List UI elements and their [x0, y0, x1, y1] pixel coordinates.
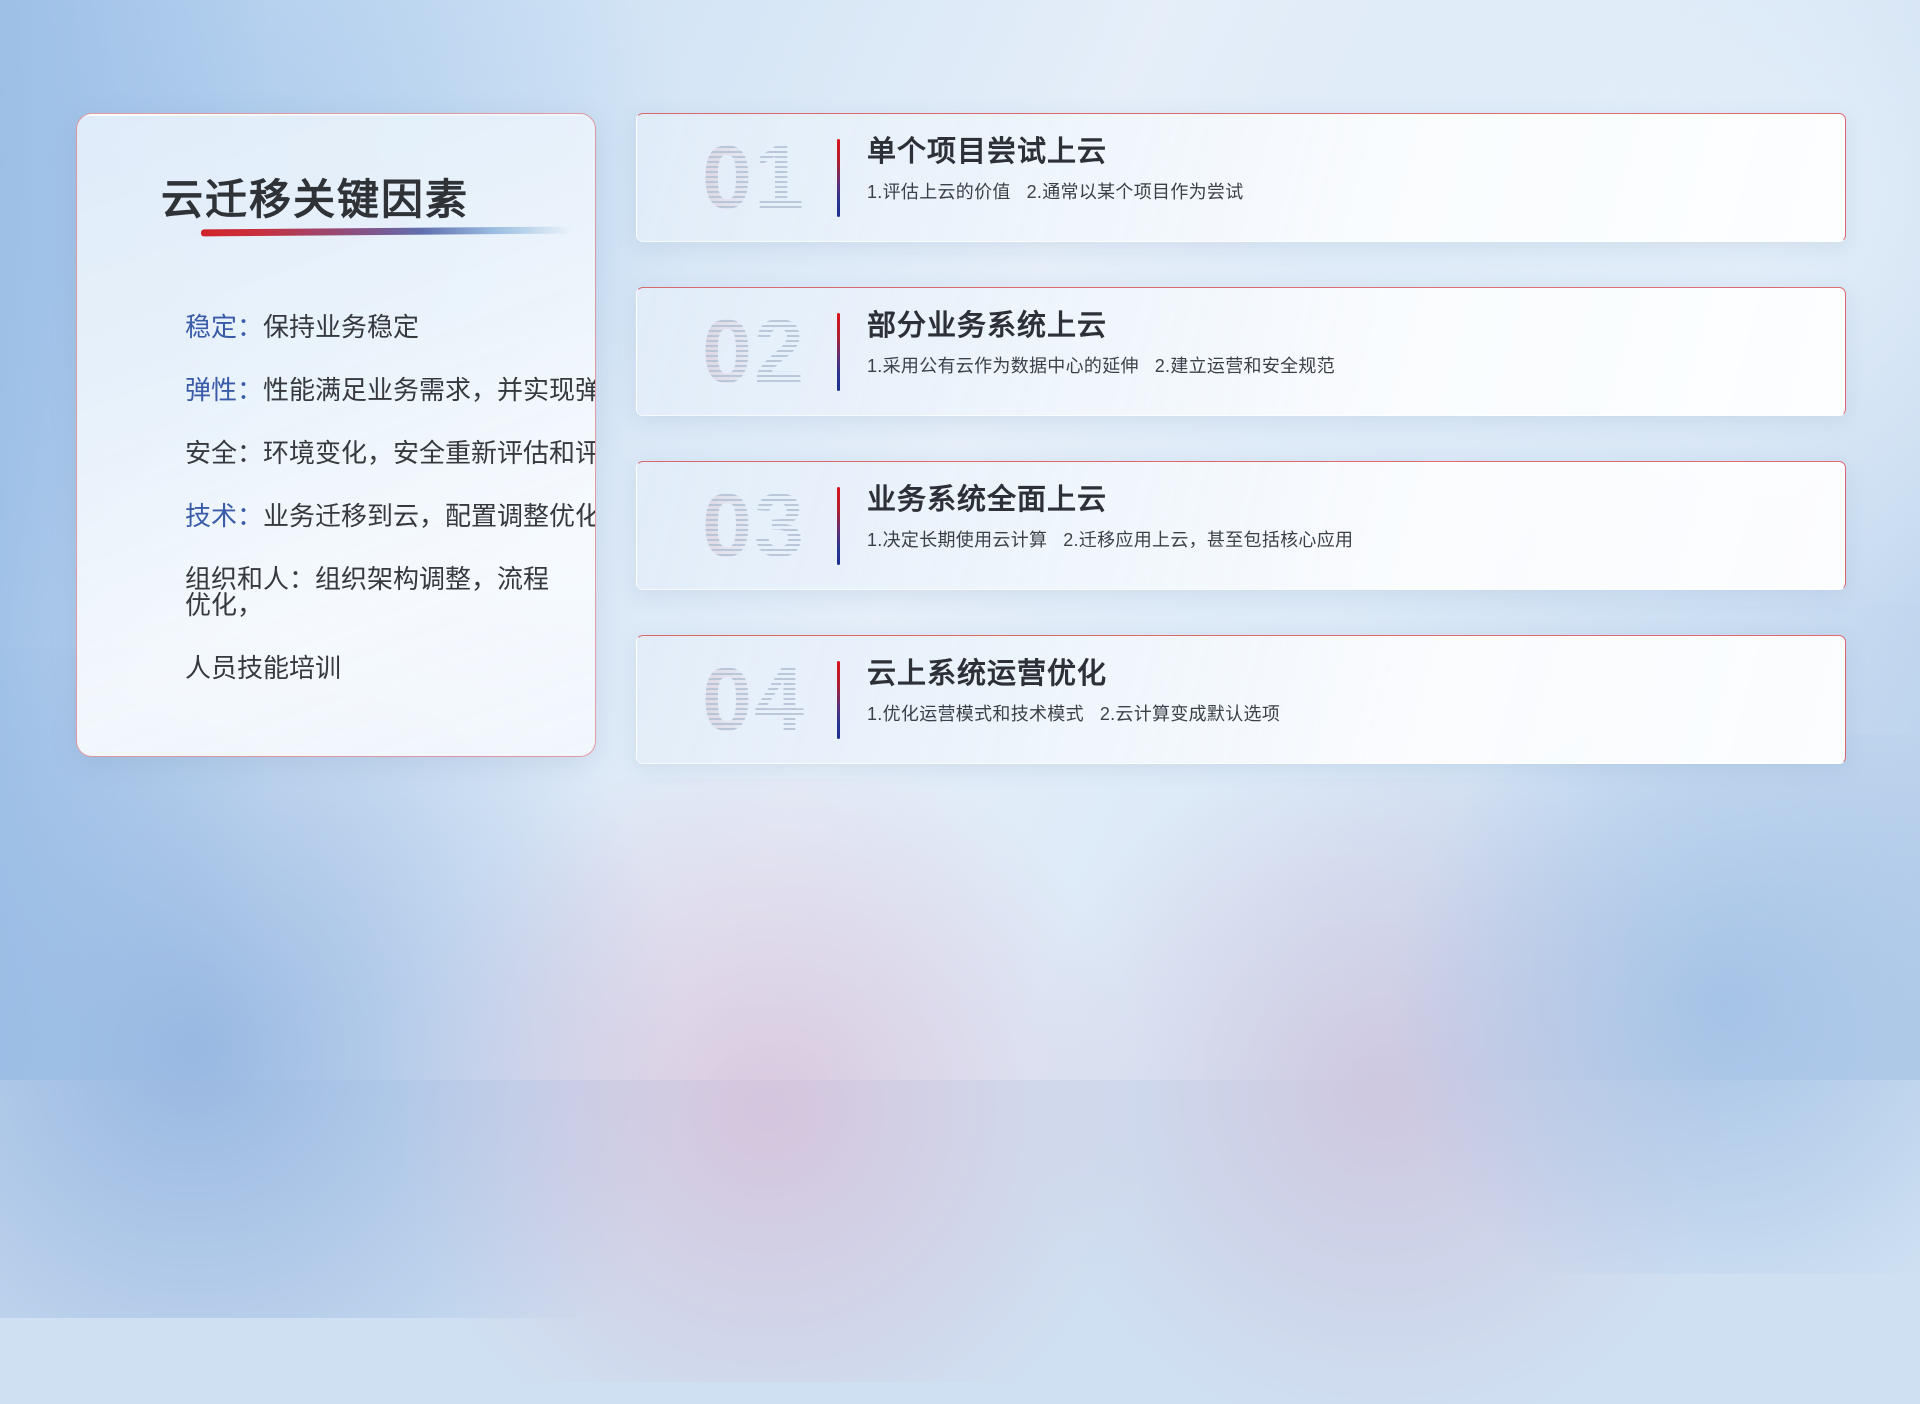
- step-accent-bar: [837, 139, 840, 217]
- list-item-label: 技术：: [185, 501, 263, 531]
- background-glow-bottom-right: [1344, 734, 1920, 1274]
- step-card[interactable]: 01 单个项目尝试上云 1.评估上云的价值 2.通常以某个项目作为尝试: [636, 113, 1846, 242]
- step-content: 业务系统全面上云 1.决定长期使用云计算 2.迁移应用上云，甚至包括核心应用: [867, 482, 1825, 553]
- key-factors-list: 稳定：保持业务稳定 弹性：性能满足业务需求，并实现弹性 安全：环境变化，安全重新…: [113, 314, 575, 718]
- step-content: 单个项目尝试上云 1.评估上云的价值 2.通常以某个项目作为尝试: [867, 134, 1825, 205]
- list-item-label: 稳定：: [185, 312, 263, 342]
- list-item: 稳定：保持业务稳定: [185, 314, 575, 340]
- step-heading: 部分业务系统上云: [867, 308, 1825, 344]
- key-factors-panel: 云迁移关键因素 稳定：保持业务稳定 弹性：性能满足业务需求，并实现弹性 安全：环…: [76, 113, 596, 757]
- list-item: 安全：环境变化，安全重新评估和评审: [185, 440, 575, 466]
- list-item-label: 安全：: [185, 438, 263, 468]
- step-description: 1.决定长期使用云计算 2.迁移应用上云，甚至包括核心应用: [867, 529, 1825, 552]
- list-item-text: 业务迁移到云，配置调整优化: [263, 501, 596, 531]
- list-item-label: 弹性：: [185, 375, 263, 405]
- step-description: 1.采用公有云作为数据中心的延伸 2.建立运营和安全规范: [867, 355, 1825, 378]
- step-heading: 业务系统全面上云: [867, 482, 1825, 518]
- list-item: 弹性：性能满足业务需求，并实现弹性: [185, 377, 575, 403]
- step-heading: 云上系统运营优化: [867, 656, 1825, 692]
- list-item-text: 保持业务稳定: [263, 312, 419, 342]
- step-card[interactable]: 02 部分业务系统上云 1.采用公有云作为数据中心的延伸 2.建立运营和安全规范: [636, 287, 1846, 416]
- step-accent-bar: [837, 487, 840, 565]
- step-accent-bar: [837, 313, 840, 391]
- step-number: 02: [659, 300, 849, 404]
- list-item-text-continuation: 人员技能培训: [185, 655, 575, 681]
- list-item: 组织和人：组织架构调整，流程优化， 人员技能培训: [185, 566, 575, 681]
- list-item-text: 性能满足业务需求，并实现弹性: [263, 375, 596, 405]
- step-description: 1.优化运营模式和技术模式 2.云计算变成默认选项: [867, 703, 1825, 726]
- list-item-text: 环境变化，安全重新评估和评审: [263, 438, 596, 468]
- step-card[interactable]: 04 云上系统运营优化 1.优化运营模式和技术模式 2.云计算变成默认选项: [636, 635, 1846, 764]
- step-number: 04: [659, 648, 849, 752]
- step-content: 部分业务系统上云 1.采用公有云作为数据中心的延伸 2.建立运营和安全规范: [867, 308, 1825, 379]
- step-number: 01: [659, 126, 849, 230]
- title-underline-accent: [201, 227, 571, 237]
- list-item: 技术：业务迁移到云，配置调整优化: [185, 503, 575, 529]
- page-title: 云迁移关键因素: [161, 166, 469, 227]
- step-content: 云上系统运营优化 1.优化运营模式和技术模式 2.云计算变成默认选项: [867, 656, 1825, 727]
- step-description: 1.评估上云的价值 2.通常以某个项目作为尝试: [867, 181, 1825, 204]
- step-number: 03: [659, 474, 849, 578]
- step-accent-bar: [837, 661, 840, 739]
- step-heading: 单个项目尝试上云: [867, 134, 1825, 170]
- migration-steps-list: 01 单个项目尝试上云 1.评估上云的价值 2.通常以某个项目作为尝试 02 部…: [636, 113, 1846, 764]
- step-card[interactable]: 03 业务系统全面上云 1.决定长期使用云计算 2.迁移应用上云，甚至包括核心应…: [636, 461, 1846, 590]
